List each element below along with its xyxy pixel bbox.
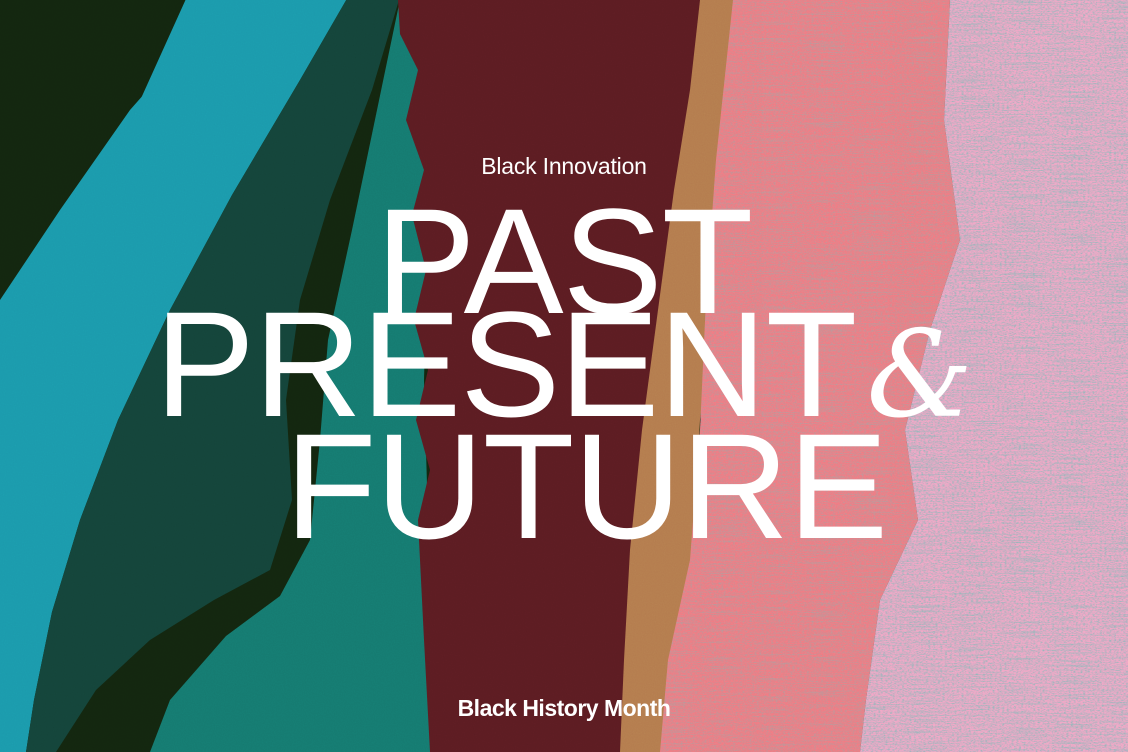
headline-line-future: FUTURE (0, 422, 1128, 551)
footer-label: Black History Month (0, 697, 1128, 720)
poster-canvas: Black Innovation PAST PRESENT& FUTURE Bl… (0, 0, 1128, 752)
text-layer: Black Innovation PAST PRESENT& FUTURE Bl… (0, 0, 1128, 752)
eyebrow-label: Black Innovation (0, 155, 1128, 178)
